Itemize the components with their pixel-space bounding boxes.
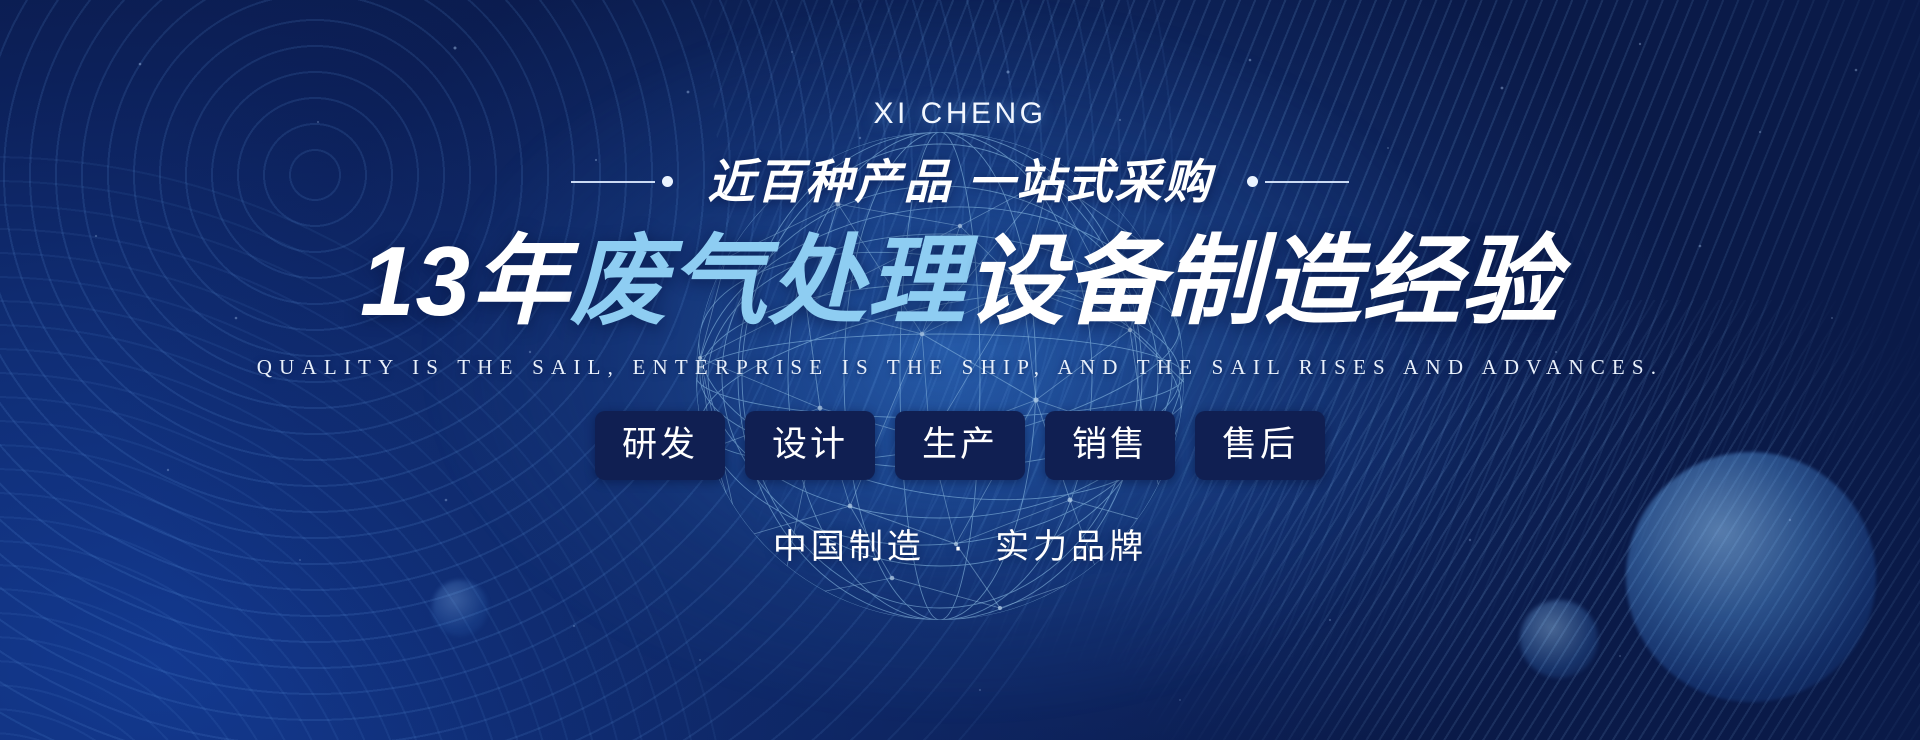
headline: 13年废气处理设备制造经验 [360, 227, 1560, 337]
footer-slogan: 中国制造 · 实力品牌 [773, 530, 1147, 564]
subtitle-row: 近百种产品 一站式采购 [571, 158, 1348, 205]
decorative-bar-right-icon [1265, 181, 1349, 183]
brand-name-english: XI CHENG [873, 99, 1046, 129]
footer-slogan-left: 中国制造 [773, 528, 925, 566]
service-tag-production[interactable]: 生产 [895, 411, 1025, 480]
service-tag-sales[interactable]: 销售 [1045, 411, 1175, 480]
decorative-bar-left-icon [571, 181, 655, 183]
promo-banner: XI CHENG 近百种产品 一站式采购 13年废气处理设备制造经验 QUALI… [0, 0, 1920, 740]
decorative-dot-left-icon [662, 176, 673, 187]
decorative-line-right [1247, 176, 1349, 187]
decorative-dot-right-icon [1247, 176, 1258, 187]
service-tag-list: 研发 设计 生产 销售 售后 [595, 411, 1325, 480]
service-tag-rd[interactable]: 研发 [595, 411, 725, 480]
subtitle-text: 近百种产品 一站式采购 [707, 158, 1212, 205]
footer-slogan-right: 实力品牌 [995, 528, 1147, 566]
banner-content: XI CHENG 近百种产品 一站式采购 13年废气处理设备制造经验 QUALI… [0, 0, 1920, 740]
headline-highlight: 废气处理 [570, 226, 966, 336]
service-tag-aftersales[interactable]: 售后 [1195, 411, 1325, 480]
headline-part-one: 13年 [360, 226, 570, 336]
footer-separator-icon: · [938, 528, 981, 566]
decorative-line-left [571, 176, 673, 187]
headline-part-two: 设备制造经验 [966, 226, 1560, 336]
tagline-english: QUALITY IS THE SAIL, ENTERPRISE IS THE S… [257, 355, 1664, 380]
service-tag-design[interactable]: 设计 [745, 411, 875, 480]
